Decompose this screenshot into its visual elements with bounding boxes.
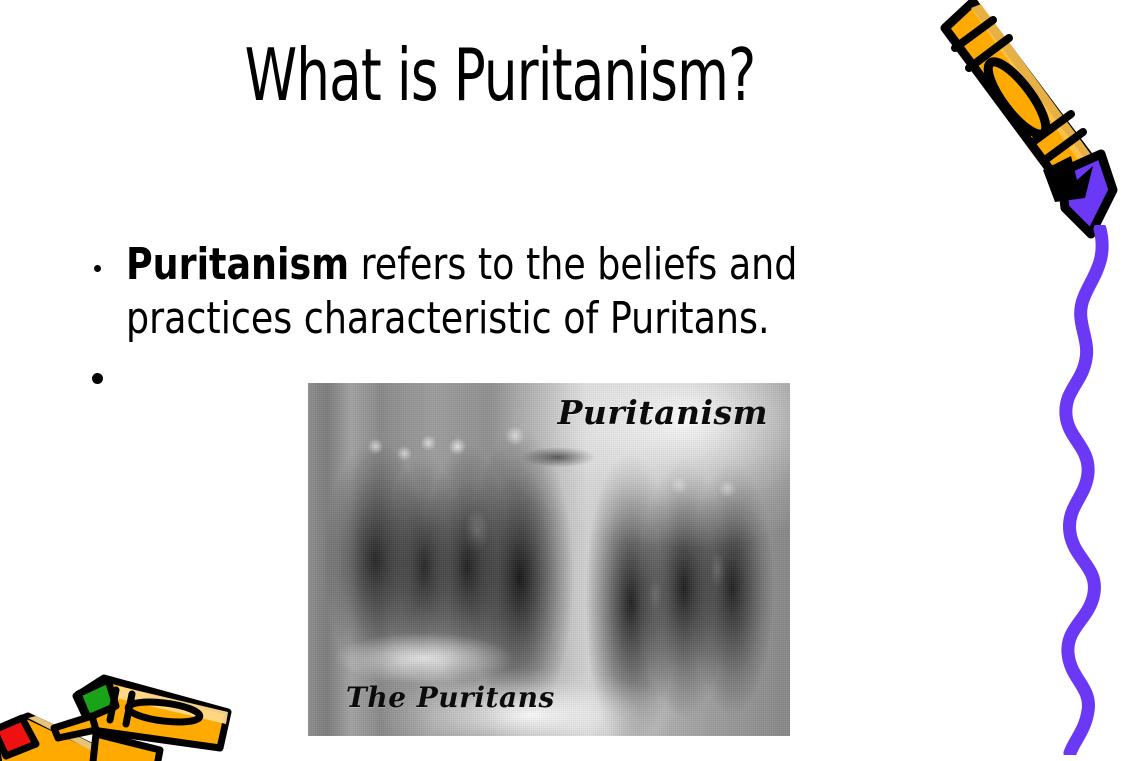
crayon-third — [92, 734, 160, 761]
image-caption-the-puritans: The Puritans — [346, 681, 555, 714]
bullet-dot-icon — [92, 373, 103, 384]
crayon-red — [0, 716, 118, 761]
list-item: Puritanism refers to the beliefs and pra… — [84, 238, 1014, 346]
bullet-dot-icon — [94, 265, 101, 272]
purple-squiggle-icon — [1040, 225, 1125, 755]
slide-canvas: What is Puritanism? Puritanism refers to… — [0, 0, 1125, 761]
page-title: What is Puritanism? — [90, 30, 910, 120]
bullet-bold-term: Puritanism — [126, 239, 349, 290]
puritans-image: Puritanism The Puritans — [308, 383, 790, 736]
bullet-list: Puritanism refers to the beliefs and pra… — [84, 238, 1014, 406]
image-caption-puritanism: Puritanism — [558, 393, 768, 432]
crayon-top-right-icon — [925, 0, 1125, 259]
crayon-green — [54, 678, 228, 748]
crayons-bottom-left-icon — [0, 672, 242, 761]
bullet-text: Puritanism refers to the beliefs and pra… — [126, 238, 943, 346]
